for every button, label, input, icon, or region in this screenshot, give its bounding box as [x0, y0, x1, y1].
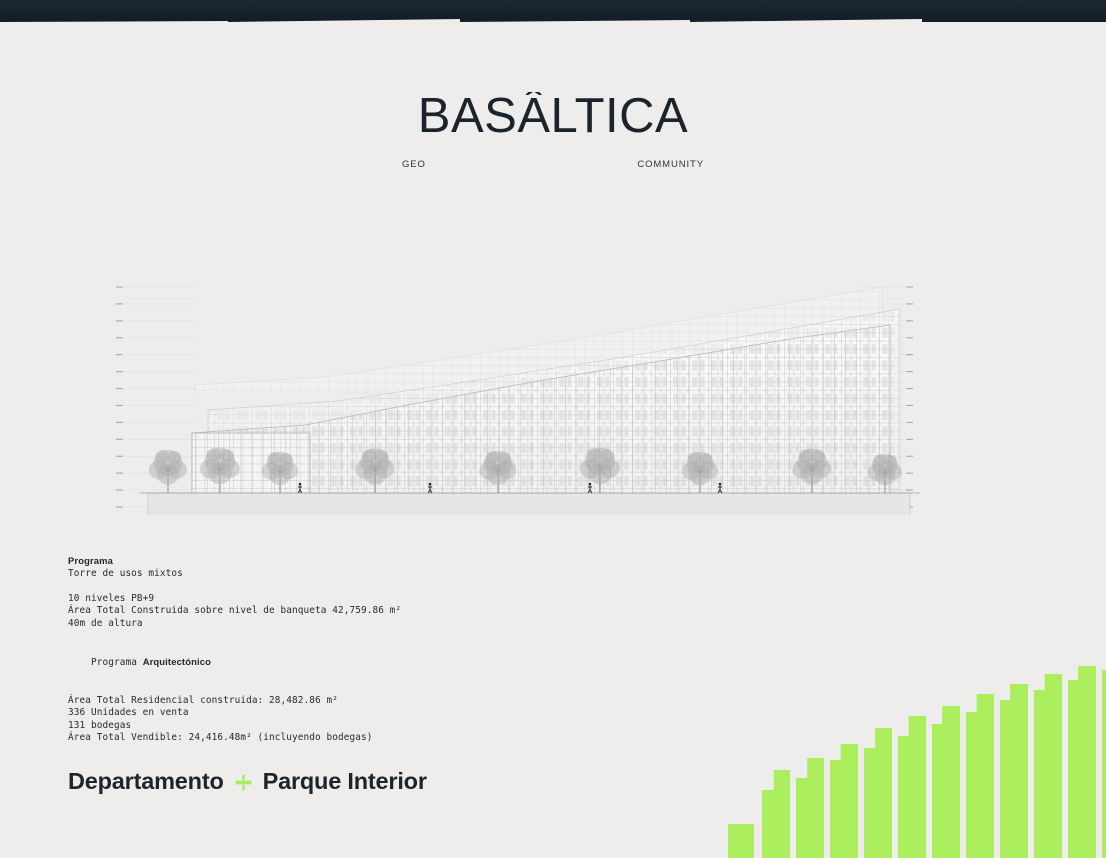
footer-word-left: Departamento [68, 768, 224, 795]
top-decorative-band [0, 0, 1106, 30]
brand-logo: BASÂLTICA [0, 92, 1106, 144]
step-bar-2 [762, 770, 790, 858]
top-band-segment-5 [922, 0, 1106, 22]
elevation-drawing [100, 275, 930, 515]
top-band-segment-4 [690, 0, 922, 22]
building-mass-group [140, 287, 920, 515]
program-description-block: Programa Torre de usos mixtos 10 niveles… [68, 555, 401, 745]
step-bar-7 [932, 706, 960, 858]
top-band-segment-1 [0, 0, 228, 22]
program-line: 40m de altura [68, 618, 401, 631]
program-line: Área Total Residencial construida: 28,48… [68, 695, 401, 708]
step-bar-6 [898, 716, 926, 858]
logo-label-community: COMMUNITY [637, 159, 704, 170]
top-band-segment-2 [228, 0, 460, 22]
top-band-shapes [0, 0, 1106, 30]
step-bar-4 [830, 744, 858, 858]
program-heading-1: Programa [68, 555, 401, 568]
wordmark-basaltica: BASÂLTICA [398, 92, 708, 144]
program-line: 336 Unidades en venta [68, 707, 401, 720]
spacer [68, 631, 401, 644]
top-band-segment-group [0, 0, 1106, 22]
ascending-step-bars-decoration [720, 660, 1106, 858]
logo-label-geo: GEO [402, 159, 426, 170]
program-line: 10 niveles PB+9 [68, 593, 401, 606]
step-bar-5 [864, 728, 892, 858]
footer-word-right: Parque Interior [263, 768, 427, 795]
program-heading-2: Programa Arquitectónico [68, 643, 401, 682]
architectural-elevation-rendering [100, 275, 930, 515]
step-bars-svg [720, 660, 1106, 858]
step-bar-1 [728, 824, 754, 858]
program-heading-2-light: Programa [91, 657, 137, 668]
plus-icon [235, 774, 252, 791]
spacer [68, 682, 401, 695]
step-bars-group [728, 660, 1106, 858]
step-bar-10 [1034, 674, 1062, 858]
ground-plinth [148, 493, 910, 515]
program-line: Área Total Construida sobre nivel de ban… [68, 605, 401, 618]
step-bar-3 [796, 758, 824, 858]
program-line: 131 bodegas [68, 720, 401, 733]
step-bar-12 [1102, 660, 1106, 858]
logo-sublabels: GEO COMMUNITY [402, 159, 704, 170]
top-band-segment-3 [460, 0, 690, 22]
program-heading-2-bold: Arquitectónico [143, 656, 211, 667]
step-bar-11 [1068, 666, 1096, 858]
program-line: Área Total Vendible: 24,416.48m² (incluy… [68, 732, 401, 745]
step-bar-9 [1000, 684, 1028, 858]
footer-headline: Departamento Parque Interior [68, 768, 427, 795]
wordmark-text: BASÂLTICA [418, 92, 688, 143]
step-bar-8 [966, 694, 994, 858]
program-line: Torre de usos mixtos [68, 568, 401, 581]
spacer [68, 580, 401, 593]
